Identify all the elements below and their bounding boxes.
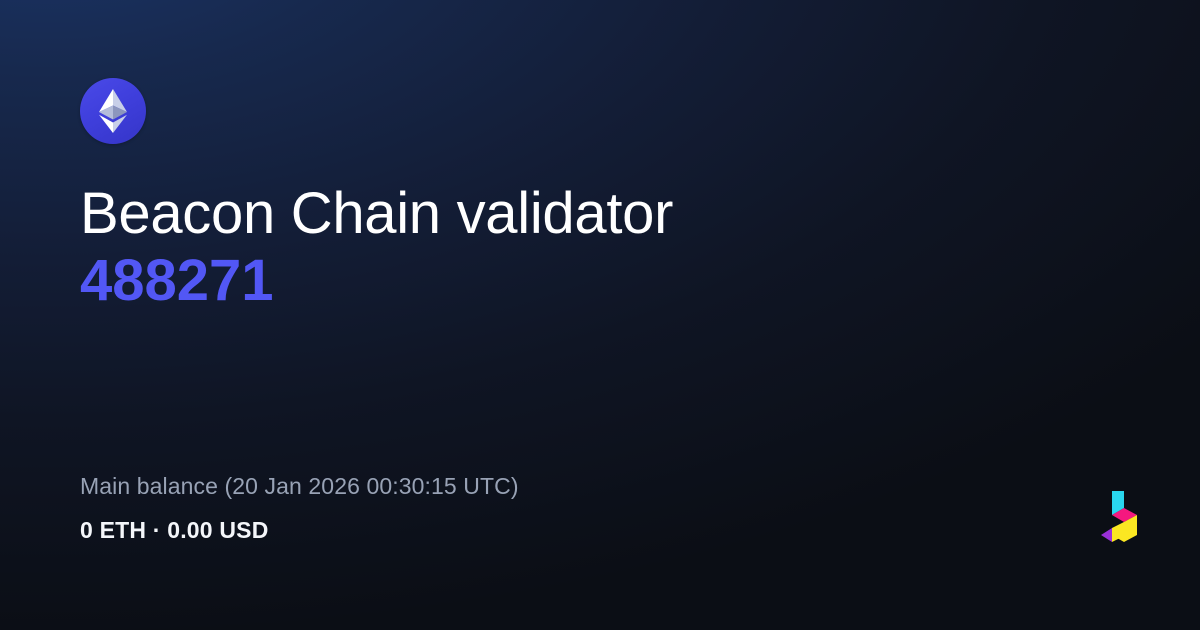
header-block: Beacon Chain validator 488271	[80, 78, 1080, 314]
balance-block: Main balance (20 Jan 2026 00:30:15 UTC) …	[80, 472, 980, 546]
balance-label: Main balance (20 Jan 2026 00:30:15 UTC)	[80, 472, 980, 502]
page-title-text: Beacon Chain validator	[80, 182, 1080, 247]
beaconchain-logo-icon	[1098, 490, 1138, 552]
og-card: Beacon Chain validator 488271 Main balan…	[0, 0, 1200, 630]
balance-value: 0 ETH · 0.00 USD	[80, 516, 980, 546]
validator-index: 488271	[80, 249, 1080, 314]
ethereum-icon	[80, 78, 146, 144]
page-title: Beacon Chain validator 488271	[80, 182, 1080, 314]
